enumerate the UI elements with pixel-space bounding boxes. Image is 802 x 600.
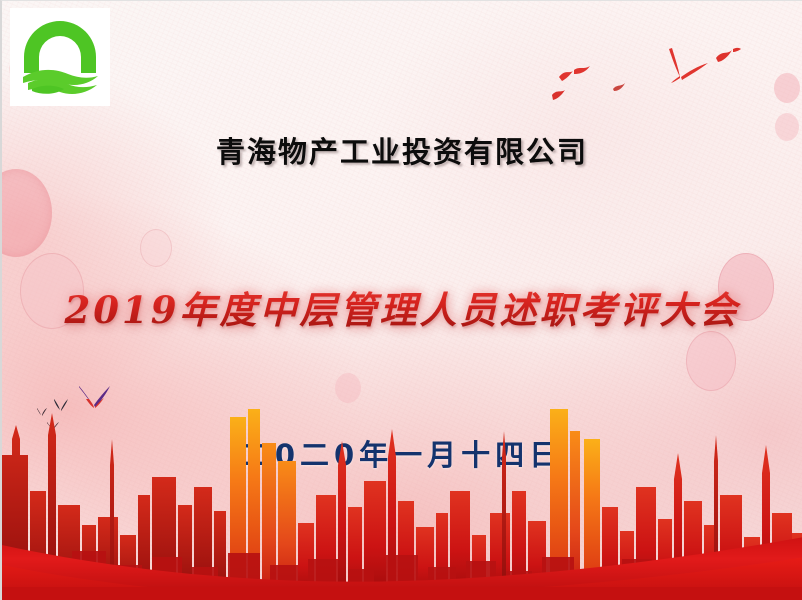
bubble-decoration <box>0 169 52 257</box>
red-wave-band-front <box>2 557 802 600</box>
skyline-foreground-blocks <box>2 551 802 600</box>
bird-icon <box>558 63 592 83</box>
bubble-decoration <box>686 331 736 391</box>
bird-icon <box>76 383 112 409</box>
bird-icon <box>52 397 70 413</box>
bird-icon <box>36 407 48 417</box>
bird-icon <box>551 86 577 102</box>
logo-arch-waves-icon <box>18 17 102 97</box>
event-date-text: 二0二0年一月十四日 <box>2 432 802 474</box>
company-logo <box>10 8 110 106</box>
bird-icon <box>714 46 742 64</box>
bubble-decoration <box>774 73 800 103</box>
bottom-red-strip <box>2 587 802 600</box>
bird-icon <box>650 44 712 84</box>
bubble-decoration <box>335 373 361 403</box>
city-skyline-graphic <box>2 395 802 600</box>
bird-icon <box>46 421 60 431</box>
presentation-slide: 青海物产工业投资有限公司 2019年度中层管理人员述职考评大会 二0二0年一月十… <box>0 0 802 600</box>
red-wave-band-back <box>2 537 802 600</box>
main-event-title: 2019年度中层管理人员述职考评大会 <box>2 280 802 334</box>
bubble-decoration <box>140 229 172 267</box>
bird-icon <box>612 81 630 93</box>
company-name-title: 青海物产工业投资有限公司 <box>2 129 802 171</box>
